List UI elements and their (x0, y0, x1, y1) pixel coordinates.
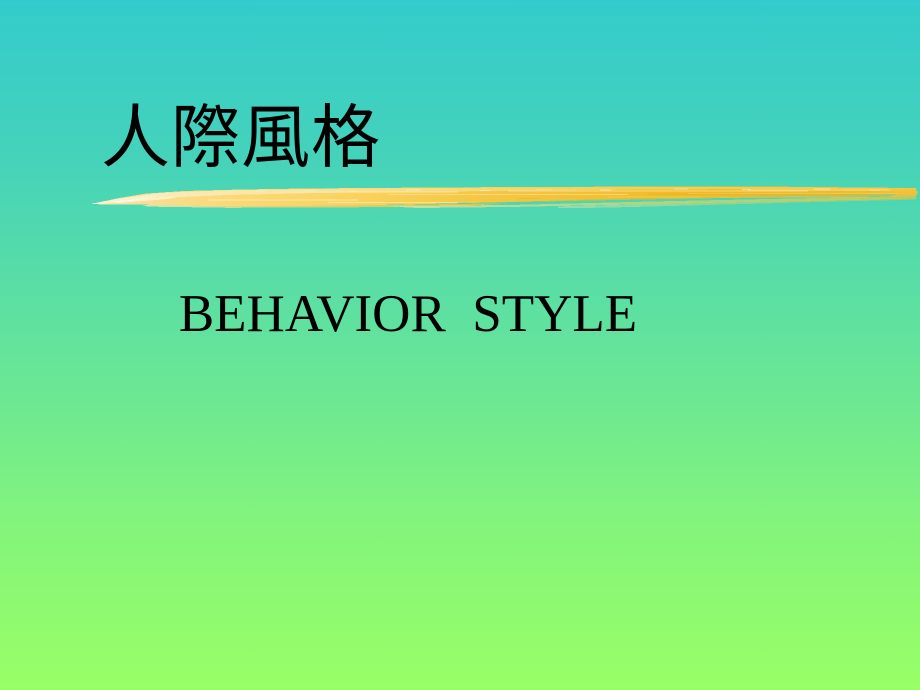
title-slide: 人際風格 (0, 0, 920, 690)
page-subtitle: BEHAVIOR STYLE (0, 283, 816, 345)
gold-brush-stroke-divider (88, 178, 920, 224)
page-title: 人際風格 (101, 96, 381, 180)
